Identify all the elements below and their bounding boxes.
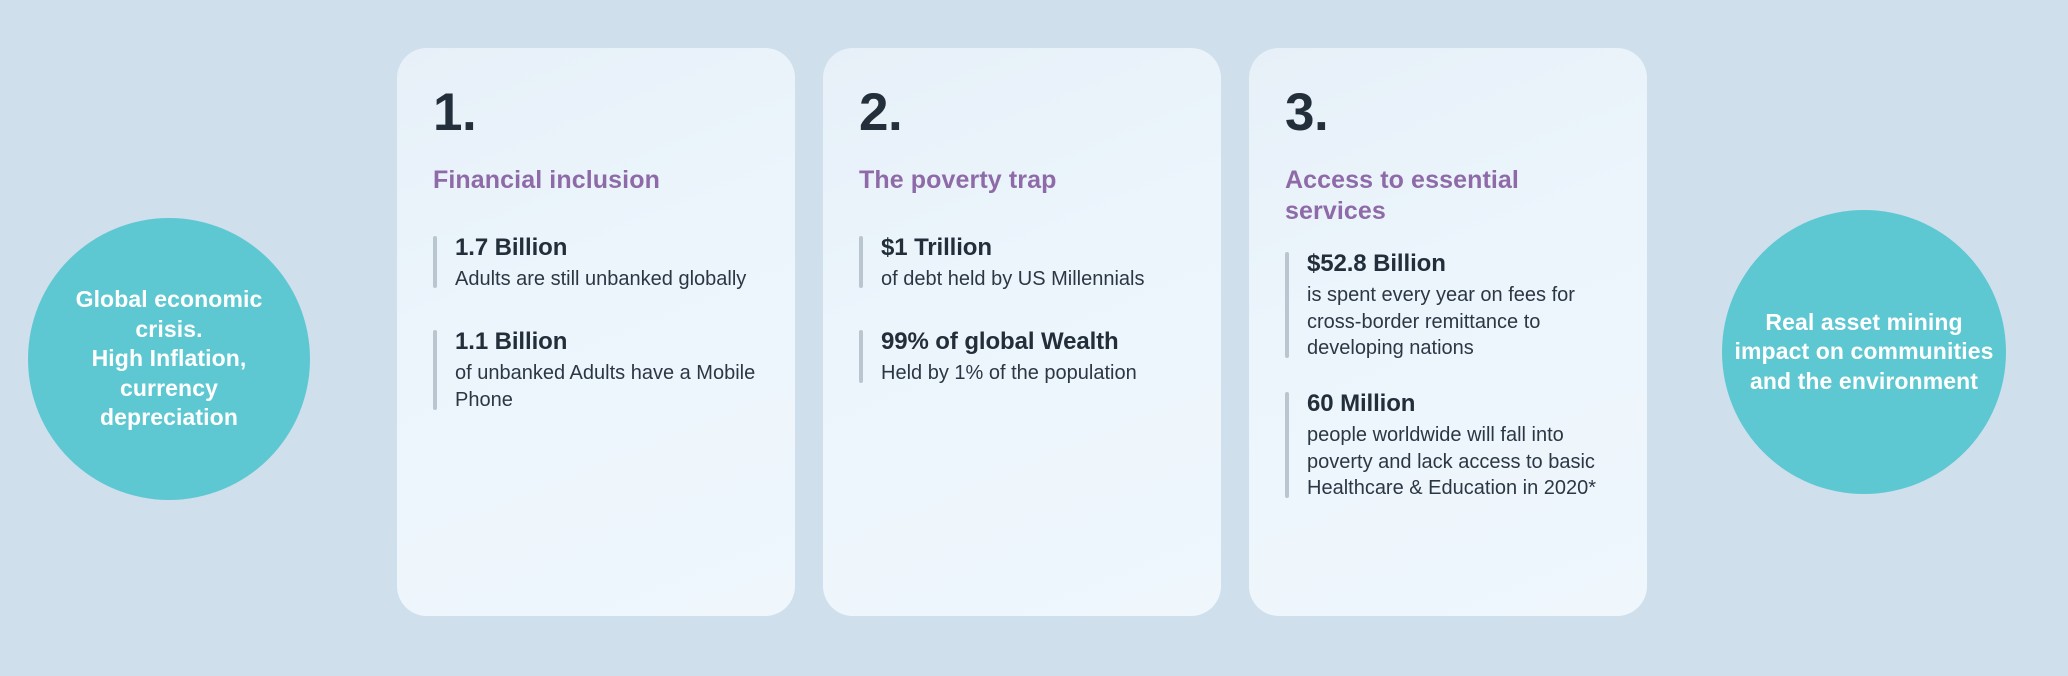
card-heading: Access to essential services	[1285, 165, 1611, 226]
stat-value: 1.1 Billion	[455, 326, 759, 357]
stat-description: of debt held by US Millennials	[881, 266, 1185, 293]
accent-bar	[859, 330, 863, 383]
left-context-circle: Global economic crisis. High Inflation, …	[28, 218, 310, 500]
stat-list: 1.7 Billion Adults are still unbanked gl…	[433, 232, 759, 414]
accent-bar	[859, 236, 863, 289]
accent-bar	[433, 236, 437, 289]
stat-description: of unbanked Adults have a Mobile Phone	[455, 360, 759, 413]
card-financial-inclusion[interactable]: 1. Financial inclusion 1.7 Billion Adult…	[397, 48, 795, 616]
stat-description: Held by 1% of the population	[881, 360, 1185, 387]
stat-block: $52.8 Billion is spent every year on fee…	[1285, 248, 1611, 362]
stat-description: Adults are still unbanked globally	[455, 266, 759, 293]
infographic-canvas: Global economic crisis. High Inflation, …	[0, 0, 2068, 676]
stat-description: people worldwide will fall into poverty …	[1307, 422, 1611, 502]
card-access-essential-services[interactable]: 3. Access to essential services $52.8 Bi…	[1249, 48, 1647, 616]
stat-block: 1.7 Billion Adults are still unbanked gl…	[433, 232, 759, 293]
card-number: 3.	[1285, 86, 1611, 139]
stat-value: 99% of global Wealth	[881, 326, 1185, 357]
stat-block: 1.1 Billion of unbanked Adults have a Mo…	[433, 326, 759, 413]
stat-value: $1 Trillion	[881, 232, 1185, 263]
card-poverty-trap[interactable]: 2. The poverty trap $1 Trillion of debt …	[823, 48, 1221, 616]
stat-block: 60 Million people worldwide will fall in…	[1285, 388, 1611, 502]
card-heading: Financial inclusion	[433, 165, 759, 196]
stat-block: 99% of global Wealth Held by 1% of the p…	[859, 326, 1185, 387]
stat-value: $52.8 Billion	[1307, 248, 1611, 279]
card-heading: The poverty trap	[859, 165, 1185, 196]
left-circle-text: Global economic crisis. High Inflation, …	[28, 285, 310, 432]
accent-bar	[1285, 252, 1289, 358]
card-number: 1.	[433, 86, 759, 139]
stat-list: $52.8 Billion is spent every year on fee…	[1285, 248, 1611, 502]
accent-bar	[433, 330, 437, 409]
right-context-circle: Real asset mining impact on communities …	[1722, 210, 2006, 494]
card-number: 2.	[859, 86, 1185, 139]
stat-block: $1 Trillion of debt held by US Millennia…	[859, 232, 1185, 293]
stat-description: is spent every year on fees for cross-bo…	[1307, 282, 1611, 362]
stat-list: $1 Trillion of debt held by US Millennia…	[859, 232, 1185, 388]
accent-bar	[1285, 392, 1289, 498]
stat-value: 60 Million	[1307, 388, 1611, 419]
stat-value: 1.7 Billion	[455, 232, 759, 263]
right-circle-text: Real asset mining impact on communities …	[1722, 308, 2006, 396]
